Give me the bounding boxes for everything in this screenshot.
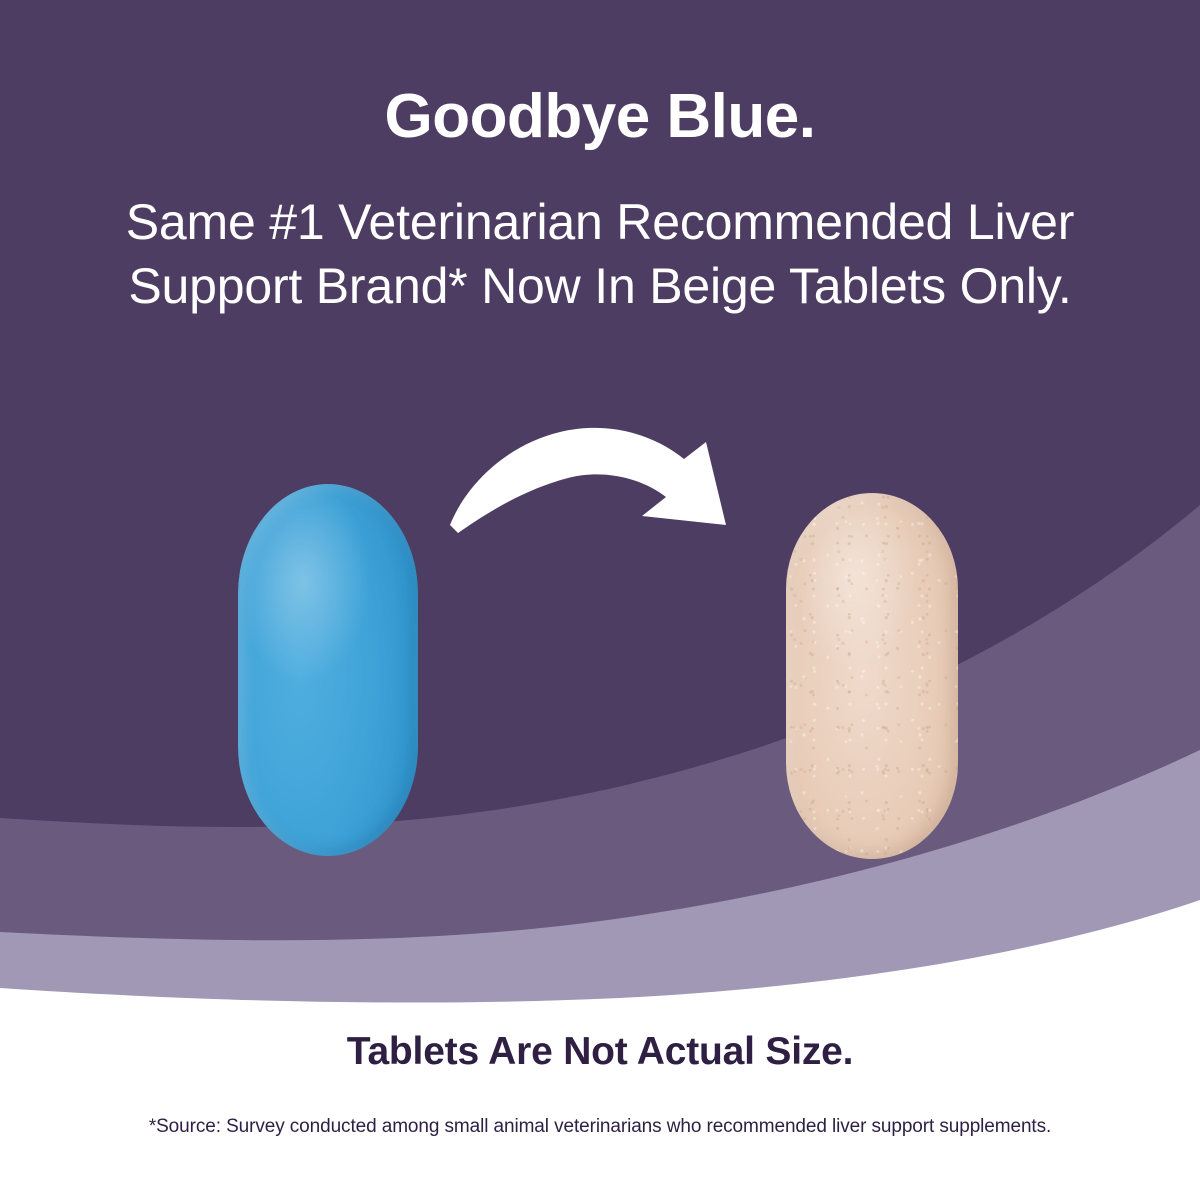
blue-tablet [238,484,418,856]
arrow-shape [450,428,726,533]
bottom-text-block: Tablets Are Not Actual Size. *Source: Su… [0,1030,1200,1138]
subheadline-line-1: Same #1 Veterinarian Recommended Liver [45,190,1155,254]
source-footnote: *Source: Survey conducted among small an… [0,1074,1200,1138]
subheadline: Same #1 Veterinarian Recommended Liver S… [45,148,1155,318]
subheadline-line-2: Support Brand* Now In Beige Tablets Only… [45,254,1155,318]
beige-tablet [786,493,958,859]
curved-arrow-right-icon [430,415,770,565]
disclaimer-text: Tablets Are Not Actual Size. [0,1030,1200,1074]
beige-tablet-texture [786,493,958,859]
promotional-banner: Goodbye Blue. Same #1 Veterinarian Recom… [0,0,1200,1200]
headline-block: Goodbye Blue. Same #1 Veterinarian Recom… [0,0,1200,318]
page-title: Goodbye Blue. [0,0,1200,148]
